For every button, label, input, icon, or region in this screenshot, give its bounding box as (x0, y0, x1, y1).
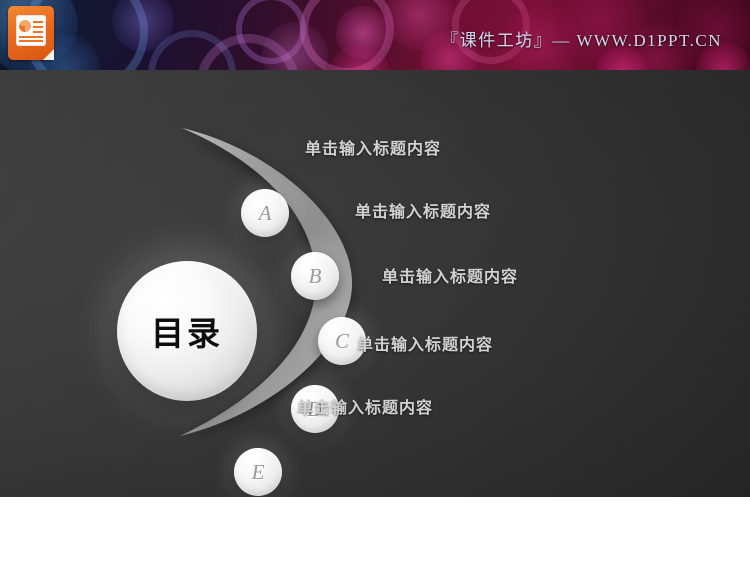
center-toc-label: 目录 (151, 307, 223, 355)
bokeh-circle (300, 0, 394, 70)
powerpoint-document-glyph (16, 15, 46, 46)
bokeh-circle (148, 30, 236, 70)
text-line-glyph (33, 21, 43, 23)
toc-item-text-d[interactable]: 单击输入标题内容 (357, 331, 493, 355)
bokeh-circle (262, 22, 328, 70)
text-line-glyph (19, 36, 43, 38)
center-toc-disc[interactable]: 目录 (117, 261, 257, 401)
toc-item-text-e[interactable]: 单击输入标题内容 (297, 394, 433, 418)
bokeh-circle (336, 6, 390, 60)
slide-header-banner: 『课件工坊』— WWW.D1PPT.CN (0, 0, 750, 70)
bokeh-circle (236, 0, 306, 64)
toc-node-a[interactable]: A (241, 189, 289, 237)
toc-item-text-a[interactable]: 单击输入标题内容 (305, 135, 441, 159)
bokeh-circle (330, 44, 390, 70)
presentation-slide: 『课件工坊』— WWW.D1PPT.CN (0, 0, 750, 563)
toc-node-letter: C (335, 329, 349, 354)
bokeh-circle (196, 34, 300, 70)
toc-node-letter: E (252, 460, 265, 485)
toc-node-b[interactable]: B (291, 252, 339, 300)
toc-node-letter: A (259, 201, 272, 226)
slide-footer: 课件工坊 HTTP://WWW.D1PPT.CN (0, 497, 750, 563)
text-line-glyph (33, 31, 43, 33)
toc-node-letter: B (309, 264, 322, 289)
text-line-glyph (33, 26, 43, 28)
toc-node-e[interactable]: E (234, 448, 282, 496)
pie-chart-icon (19, 20, 31, 32)
powerpoint-badge-shape (8, 6, 54, 60)
powerpoint-file-icon[interactable] (8, 6, 56, 62)
bokeh-circle (112, 0, 174, 52)
header-brand-text: 『课件工坊』— WWW.D1PPT.CN (441, 26, 722, 51)
slide-body: 目录 A 单击输入标题内容 B 单击输入标题内容 C 单击输入标题内容 D 单击… (0, 70, 750, 497)
text-line-glyph (19, 40, 43, 42)
toc-item-text-c[interactable]: 单击输入标题内容 (382, 263, 518, 287)
toc-item-text-b[interactable]: 单击输入标题内容 (355, 198, 491, 222)
